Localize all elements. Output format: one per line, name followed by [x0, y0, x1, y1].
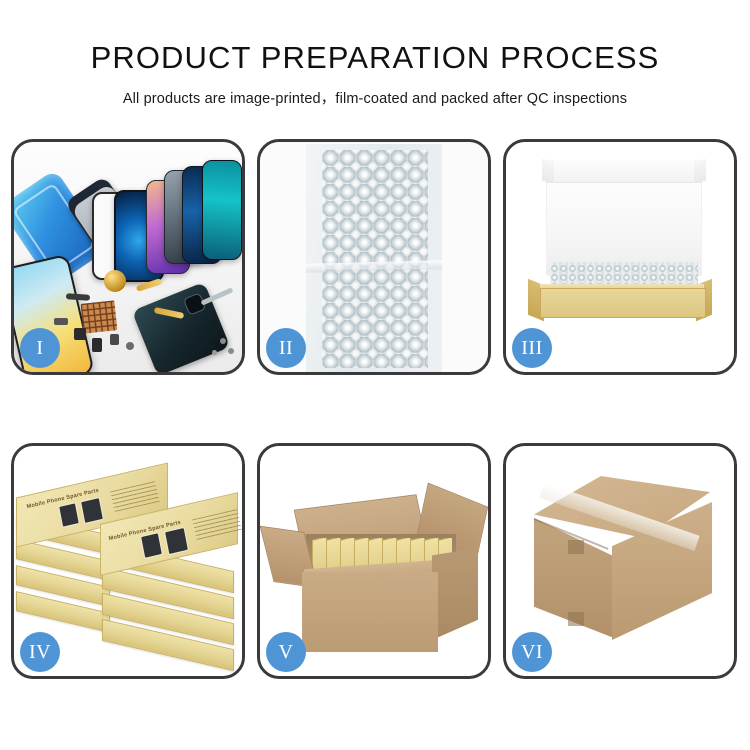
box-screen-print-back-2 — [80, 497, 104, 524]
small-part-2 — [92, 338, 102, 352]
page-title: PRODUCT PREPARATION PROCESS — [0, 0, 750, 76]
small-part-5 — [54, 318, 68, 325]
bubble-wrap-sheet — [306, 144, 442, 372]
process-step-panel-5[interactable]: V — [257, 443, 491, 679]
step-badge-2: II — [266, 328, 306, 368]
speaker-module-icon — [104, 270, 126, 292]
small-part-4 — [126, 342, 134, 350]
connector-grid-icon — [81, 300, 118, 333]
page-subtitle: All products are image-printed，film-coat… — [0, 76, 750, 108]
step-badge-6: VI — [512, 632, 552, 672]
step-badge-3: III — [512, 328, 552, 368]
small-part-1 — [74, 328, 86, 340]
process-step-grid: I II III — [11, 139, 739, 679]
carton-tab-lower — [568, 612, 584, 626]
carton-front-face — [302, 572, 438, 652]
phone-screen-teal — [202, 160, 242, 260]
page-header: PRODUCT PREPARATION PROCESS All products… — [0, 0, 750, 108]
kraft-box-front — [540, 288, 706, 318]
white-liner-lip — [546, 160, 702, 183]
screw-2 — [228, 348, 234, 354]
bubble-pattern-back — [322, 150, 428, 368]
process-step-panel-1[interactable]: I — [11, 139, 245, 375]
box-screen-print-back-1 — [58, 502, 80, 528]
box-screen-print-front-1 — [140, 532, 163, 559]
screw-1 — [220, 338, 226, 344]
box-screen-print-front-2 — [164, 527, 189, 555]
screw-3 — [212, 350, 217, 355]
small-part-3 — [110, 334, 119, 345]
process-step-panel-4[interactable]: Mobile Phone Spare Parts Mobile Phone Sp… — [11, 443, 245, 679]
step-badge-1: I — [20, 328, 60, 368]
carton-tab-upper — [568, 540, 584, 554]
step-badge-5: V — [266, 632, 306, 672]
process-step-panel-2[interactable]: II — [257, 139, 491, 375]
step-badge-4: IV — [20, 632, 60, 672]
process-step-panel-6[interactable]: VI — [503, 443, 737, 679]
process-step-panel-3[interactable]: III — [503, 139, 737, 375]
